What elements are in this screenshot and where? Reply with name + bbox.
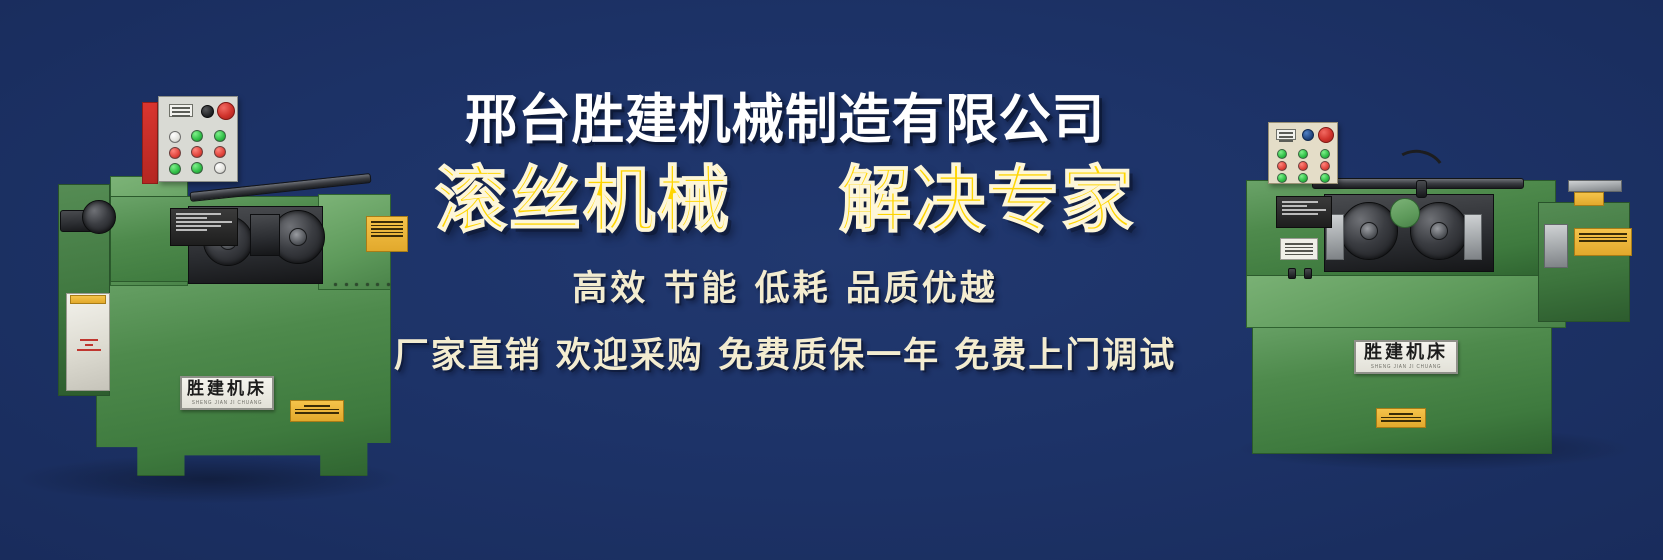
services-line: 厂家直销 欢迎采购 免费质保一年 免费上门调试 [380, 327, 1190, 378]
slogan-left: 滚丝机械 [435, 163, 731, 239]
machine-right-hydraulic-cylinder [1544, 224, 1568, 268]
machine-right-button-2[interactable] [1298, 149, 1308, 159]
machine-left-nameplate-text: 胜建机床 [187, 381, 267, 398]
machine-left-button-3[interactable] [214, 130, 226, 142]
machine-right-button-4[interactable] [1277, 161, 1287, 171]
machine-left-button-7[interactable] [169, 163, 181, 175]
slogan-row: 滚丝机械 解决专家 [380, 163, 1190, 239]
machine-left-roller-bracket [250, 214, 280, 256]
machine-right-button-1[interactable] [1277, 149, 1287, 159]
machine-right-selector-knob[interactable] [1302, 129, 1314, 141]
machine-right-nameplate: 胜建机床 SHENG JIAN JI CHUANG [1354, 340, 1458, 374]
machine-right-image: 胜建机床 SHENG JIAN JI CHUANG [1238, 118, 1638, 454]
machine-right-control-panel [1268, 122, 1338, 184]
machine-right-roller-1-hub [1360, 222, 1378, 240]
machine-right-button-5[interactable] [1298, 161, 1308, 171]
machine-right-spec-plate [1276, 196, 1332, 228]
machine-left-button-1[interactable] [169, 131, 181, 143]
machine-left-cabinet-top-label [70, 295, 106, 304]
machine-left-selector-knob[interactable] [201, 105, 214, 118]
machine-left-cabinet-red-tag [74, 336, 104, 364]
machine-right-emergency-stop-button[interactable] [1318, 127, 1334, 143]
machine-left-button-4[interactable] [169, 147, 181, 159]
machine-right-knob-1[interactable] [1288, 268, 1296, 279]
machine-right-center-pulley [1390, 198, 1420, 228]
machine-right-knob-2[interactable] [1304, 268, 1312, 279]
machine-right-button-6[interactable] [1320, 161, 1330, 171]
machine-left-panel-display [169, 104, 193, 117]
machine-right-roller-2-hub [1430, 222, 1448, 240]
machine-left-warning-label-bottom [290, 400, 344, 422]
machine-right-brass-plate [1574, 228, 1632, 256]
machine-right-terminal-strip [1574, 192, 1604, 206]
features-line: 高效 节能 低耗 品质优越 [380, 260, 1190, 311]
machine-right-tool-table [1568, 180, 1622, 192]
machine-left-base [96, 270, 391, 476]
machine-right-button-9[interactable] [1320, 173, 1330, 183]
machine-left-button-5[interactable] [191, 146, 203, 158]
machine-right-nameplate-text: 胜建机床 [1364, 344, 1448, 362]
slogan-right: 解决专家 [839, 163, 1135, 239]
machine-left-button-2[interactable] [191, 130, 203, 142]
machine-left-button-6[interactable] [214, 146, 226, 158]
product-banner: 胜建机床 SHENG JIAN JI CHUANG [0, 0, 1663, 560]
machine-right-hose-fitting [1416, 180, 1427, 198]
machine-left-button-8[interactable] [191, 162, 203, 174]
machine-right-button-7[interactable] [1277, 173, 1287, 183]
machine-right-warning-label-bottom [1376, 408, 1426, 428]
machine-left-panel-accent [142, 102, 158, 184]
machine-right-nameplate-pinyin: SHENG JIAN JI CHUANG [1371, 365, 1442, 370]
machine-right-panel-display [1276, 129, 1296, 140]
machine-left-control-panel [158, 96, 238, 182]
company-name: 邢台胜建机械制造有限公司 [392, 92, 1178, 149]
machine-right-info-plate [1280, 238, 1318, 260]
machine-right-base [1252, 318, 1552, 454]
machine-left-roller-2-hub [289, 228, 307, 246]
machine-right-slide-right [1464, 214, 1482, 260]
machine-right-button-3[interactable] [1320, 149, 1330, 159]
machine-left-nameplate: 胜建机床 SHENG JIAN JI CHUANG [180, 376, 274, 410]
machine-left-spec-plate [170, 208, 238, 246]
machine-left-button-9[interactable] [214, 162, 226, 174]
machine-right-button-8[interactable] [1298, 173, 1308, 183]
machine-left-spindle-wheel [82, 200, 116, 234]
banner-text-block: 邢台胜建机械制造有限公司 滚丝机械 解决专家 高效 节能 低耗 品质优越 厂家直… [380, 92, 1190, 378]
machine-left-image: 胜建机床 SHENG JIAN JI CHUANG [18, 88, 418, 488]
machine-left-nameplate-pinyin: SHENG JIAN JI CHUANG [192, 401, 263, 406]
machine-left-emergency-stop-button[interactable] [217, 102, 235, 120]
